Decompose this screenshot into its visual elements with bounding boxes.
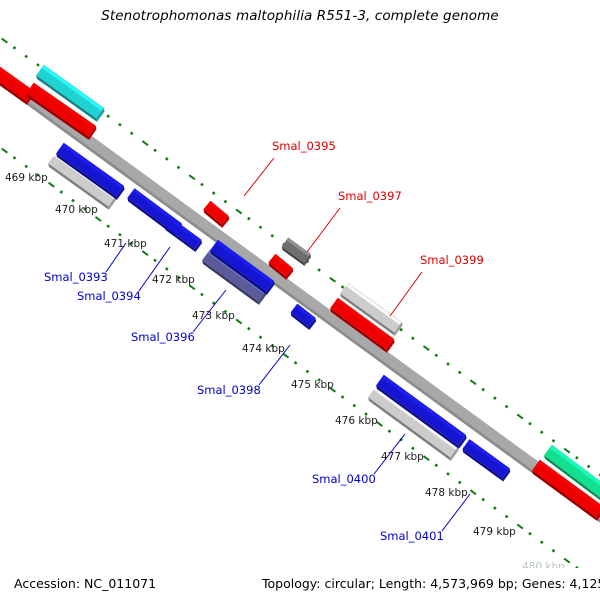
coordinate-tick-label: 470 kbp <box>55 204 98 216</box>
gene-id-label[interactable]: Smal_0400 <box>312 472 376 486</box>
gene-id-label[interactable]: Smal_0395 <box>272 139 336 153</box>
accession-text: Accession: NC_011071 <box>14 576 156 591</box>
genome-viewer: Stenotrophomonas maltophilia R551-3, com… <box>0 0 600 600</box>
coordinate-tick-label: 478 kbp <box>425 487 468 499</box>
gene-id-label[interactable]: Smal_0398 <box>197 383 261 397</box>
leader-line <box>307 208 340 252</box>
genome-summary-text: Topology: circular; Length: 4,573,969 bp… <box>262 576 600 591</box>
leader-line <box>442 494 470 531</box>
gene-id-label[interactable]: Smal_0394 <box>77 289 141 303</box>
status-bar: Accession: NC_011071 Topology: circular;… <box>0 568 600 600</box>
coordinate-tick-label: 477 kbp <box>381 451 424 463</box>
coordinate-tick-label: 479 kbp <box>473 526 516 538</box>
genome-map-canvas[interactable]: 469 kbp470 kbp471 kbp472 kbp473 kbp474 k… <box>0 0 600 600</box>
coordinate-tick-label: 475 kbp <box>291 379 334 391</box>
gene-id-label[interactable]: Smal_0396 <box>131 330 195 344</box>
coordinate-tick-label: 474 kbp <box>242 343 285 355</box>
coordinate-tick-label: 473 kbp <box>192 310 235 322</box>
coordinate-tick-label: 469 kbp <box>5 172 48 184</box>
coordinate-tick-label: 472 kbp <box>152 274 195 286</box>
coordinate-tick-label: 476 kbp <box>335 415 378 427</box>
gene-id-label[interactable]: Smal_0399 <box>420 253 484 267</box>
gene-id-label[interactable]: Smal_0393 <box>44 270 108 284</box>
gene-id-label[interactable]: Smal_0397 <box>338 189 402 203</box>
gene-id-label[interactable]: Smal_0401 <box>380 529 444 543</box>
gene-feature[interactable] <box>282 238 311 266</box>
coordinate-tick-labels: 469 kbp470 kbp471 kbp472 kbp473 kbp474 k… <box>5 172 565 573</box>
leader-line <box>244 158 274 196</box>
coordinate-tick-label: 471 kbp <box>104 238 147 250</box>
leader-line <box>390 272 422 316</box>
